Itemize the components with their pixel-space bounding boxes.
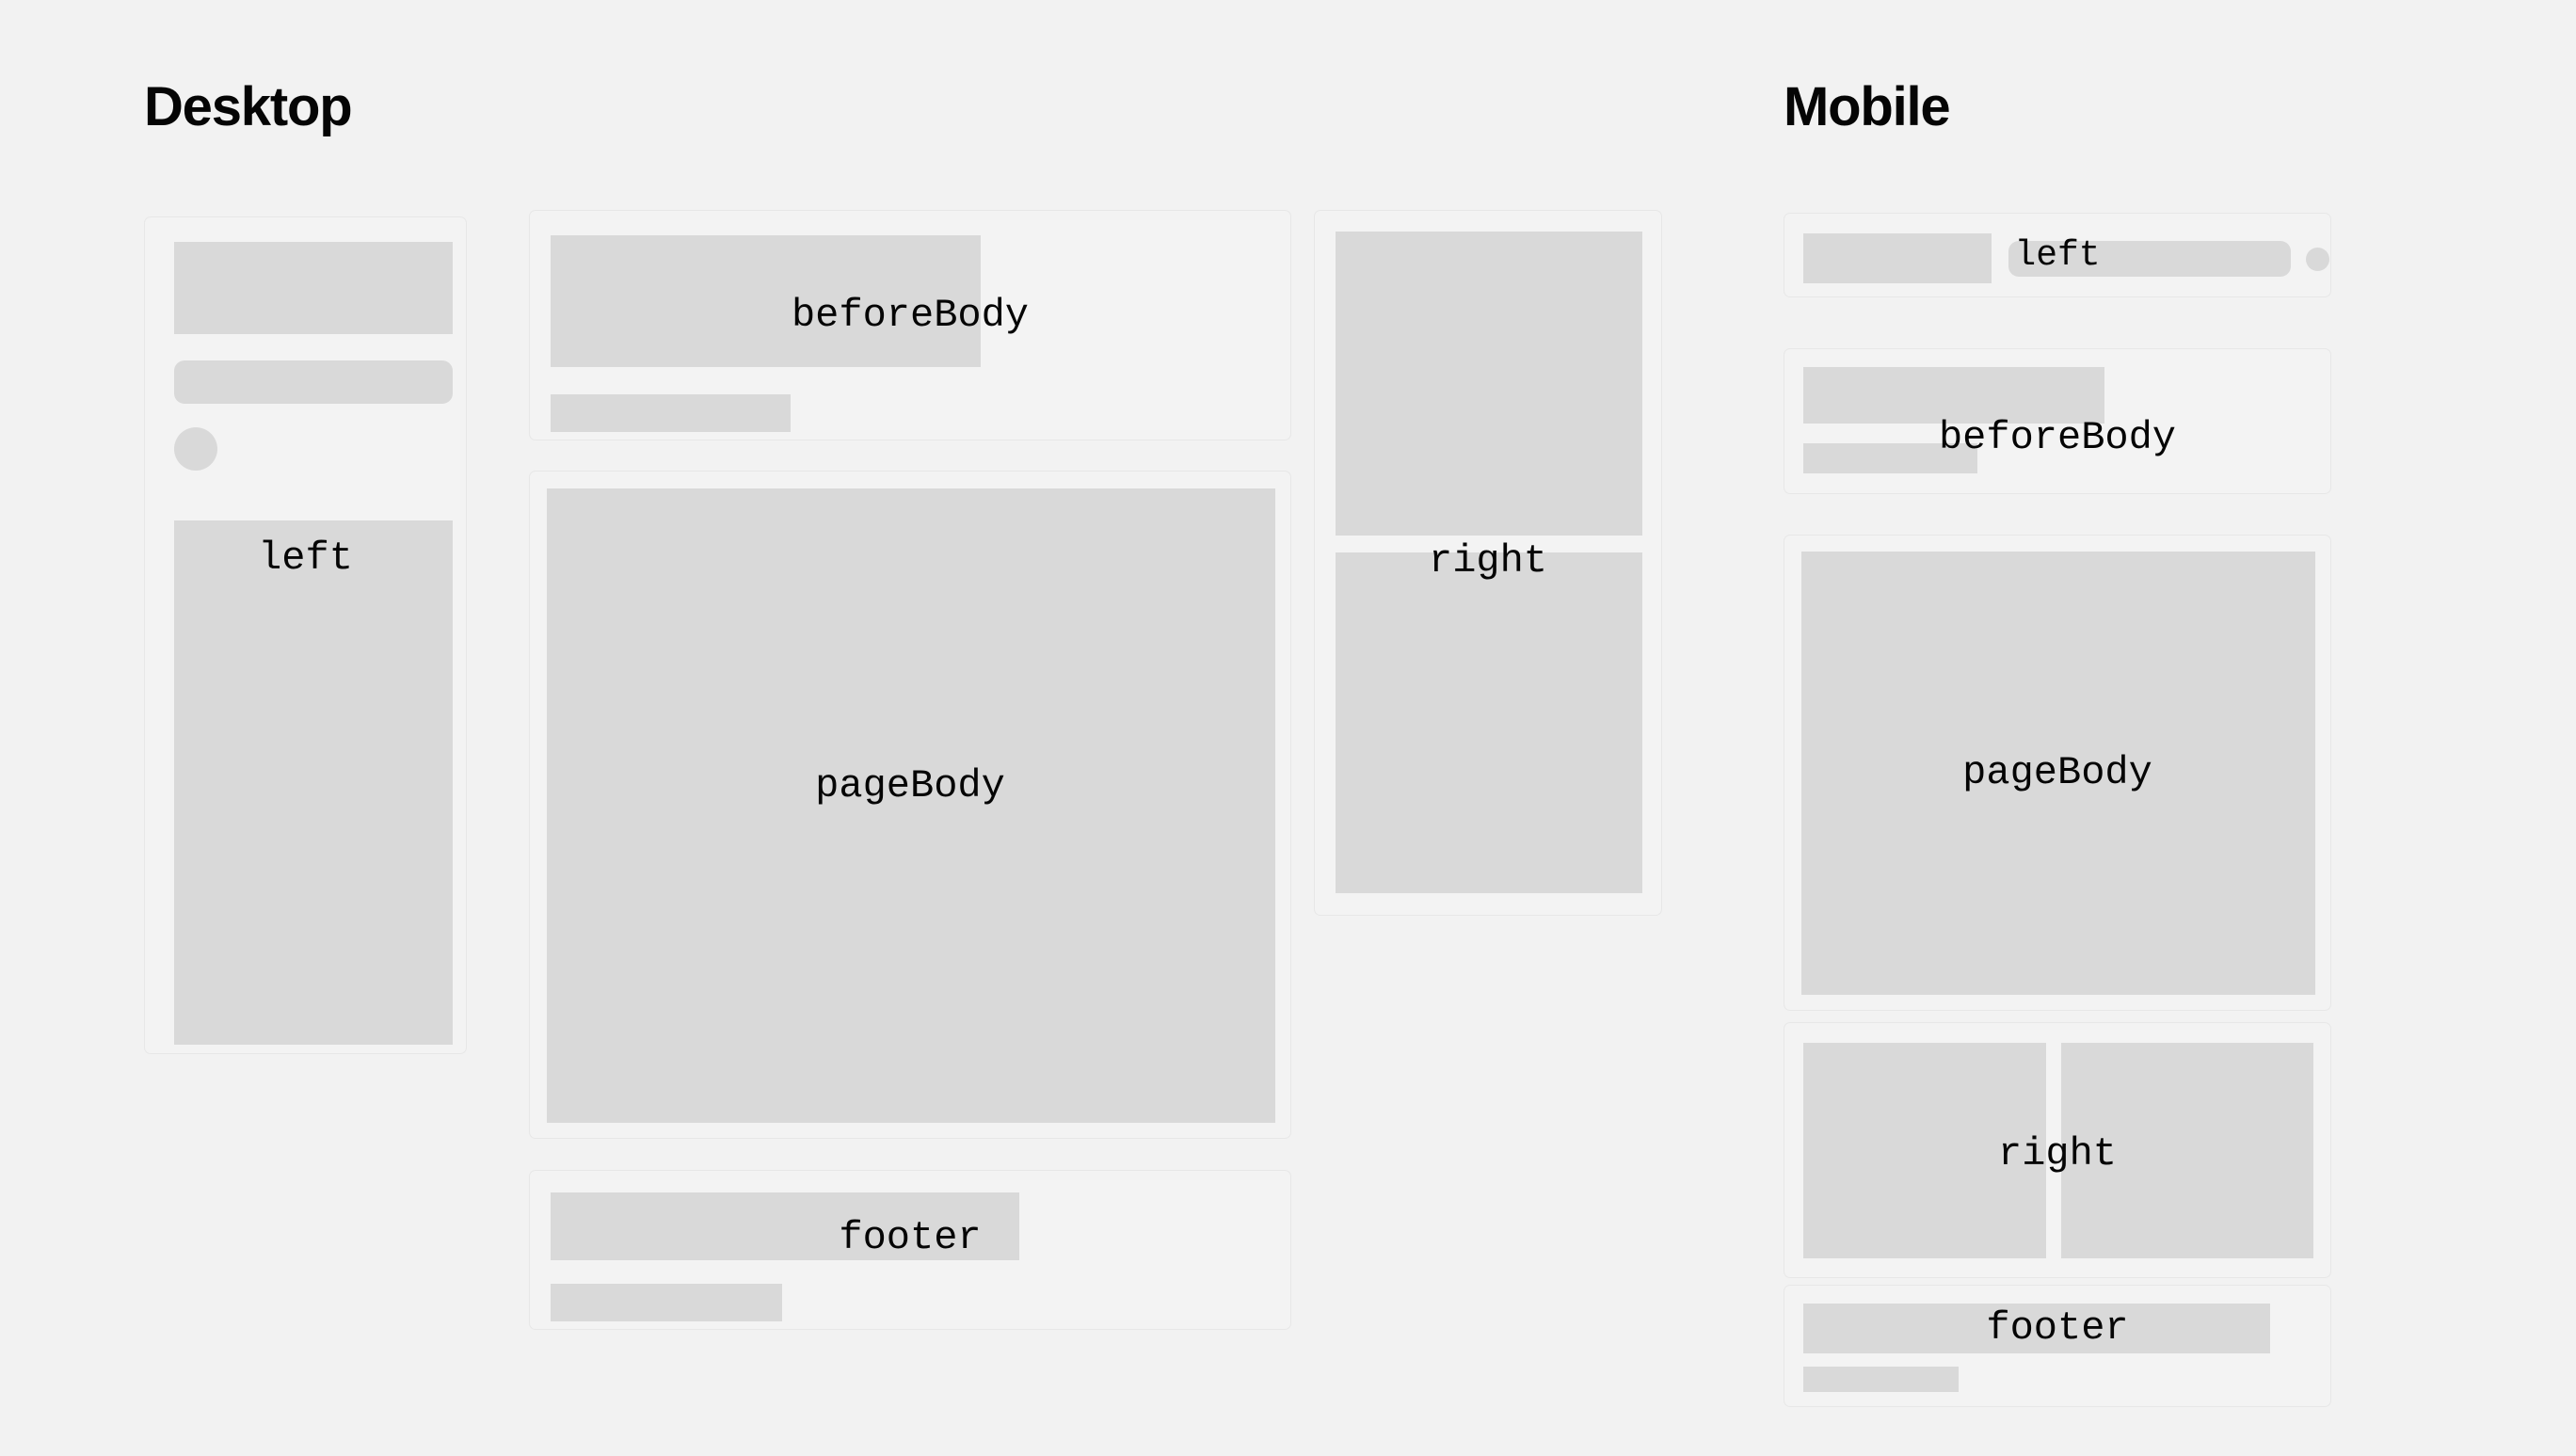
skeleton-block [1336, 232, 1642, 536]
skeleton-block [551, 235, 981, 367]
skeleton-block [1803, 367, 2104, 424]
desktop-heading: Desktop [144, 80, 351, 135]
skeleton-bar [1803, 443, 1977, 473]
skeleton-bar [551, 394, 791, 432]
skeleton-block [1803, 1043, 2046, 1258]
mobile-beforebody-region[interactable] [1784, 348, 2331, 494]
mobile-pagebody-region[interactable] [1784, 535, 2331, 1011]
skeleton-block [1336, 552, 1642, 893]
desktop-beforebody-region[interactable] [529, 210, 1291, 440]
desktop-footer-region[interactable] [529, 1170, 1291, 1330]
mobile-heading: Mobile [1784, 80, 1949, 135]
skeleton-block [551, 1192, 1019, 1260]
mobile-footer-region[interactable] [1784, 1285, 2331, 1407]
skeleton-block [547, 488, 1275, 1123]
skeleton-bar [174, 360, 453, 404]
skeleton-block [1801, 552, 2315, 995]
skeleton-bar [2008, 241, 2291, 277]
desktop-pagebody-region[interactable] [529, 471, 1291, 1139]
desktop-right-region[interactable] [1314, 210, 1662, 916]
skeleton-bar [1803, 1367, 1959, 1392]
skeleton-block [2061, 1043, 2313, 1258]
mobile-left-region[interactable] [1784, 213, 2331, 297]
skeleton-block [1803, 1304, 2270, 1353]
skeleton-block [174, 242, 453, 334]
mobile-right-region[interactable] [1784, 1022, 2331, 1278]
skeleton-avatar-circle [174, 427, 217, 471]
skeleton-block [1803, 233, 1992, 283]
skeleton-avatar-circle [2306, 248, 2329, 271]
skeleton-bar [551, 1284, 782, 1321]
wireframe-canvas: Desktop left beforeBody pageBody footer … [0, 0, 2576, 1456]
skeleton-block [174, 520, 453, 1045]
desktop-left-region[interactable] [144, 216, 467, 1054]
